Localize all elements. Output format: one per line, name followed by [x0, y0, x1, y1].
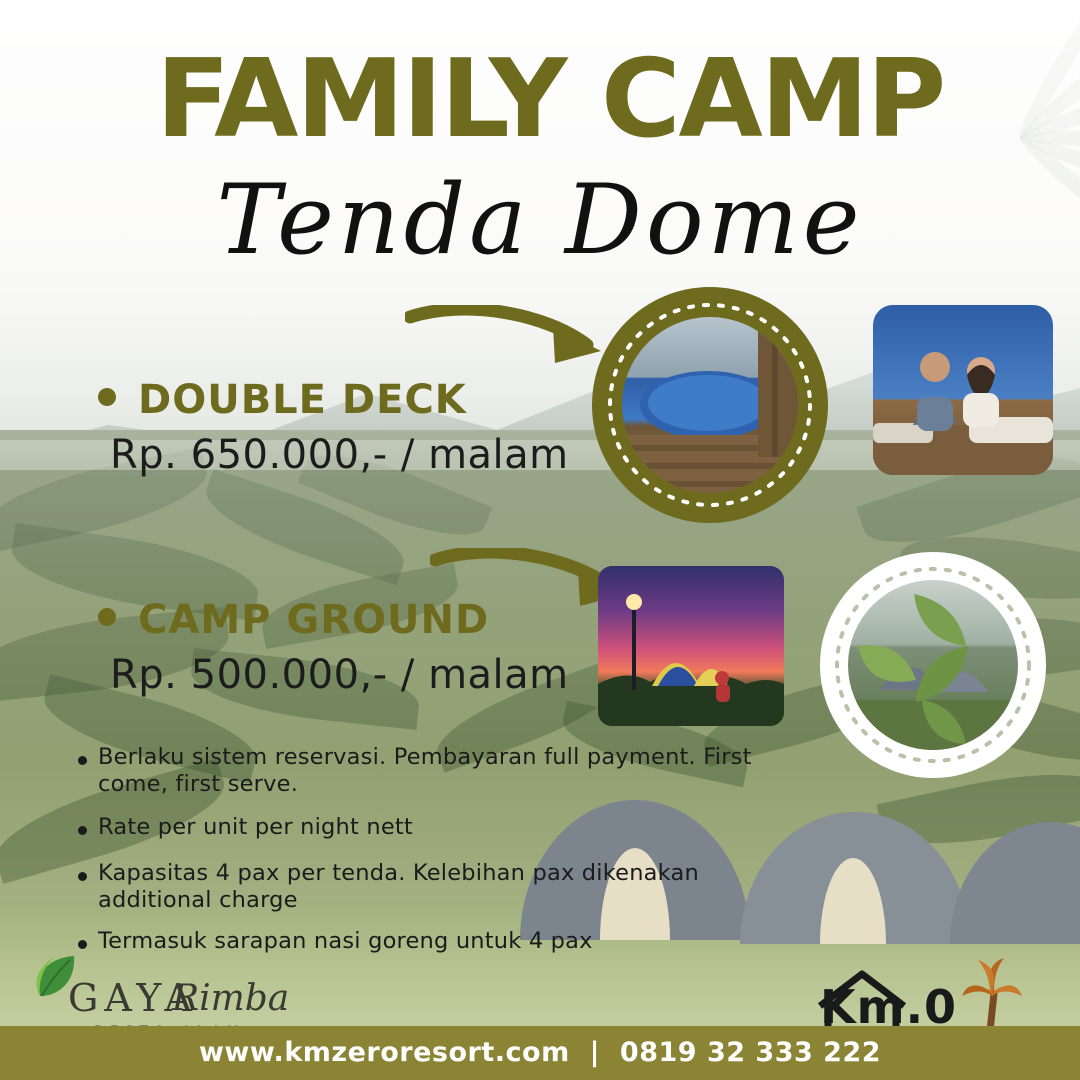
arrow-top-icon [405, 305, 615, 375]
offer-title-double-deck: DOUBLE DECK [138, 377, 467, 423]
footer-website[interactable]: www.kmzeroresort.com [199, 1037, 570, 1068]
note-bullet-3 [78, 872, 87, 881]
note-item-4: Termasuk sarapan nasi goreng untuk 4 pax [98, 928, 778, 955]
note-item-2: Rate per unit per night nett [98, 814, 768, 841]
double-deck-tent-photo [590, 285, 830, 525]
note-bullet-4 [78, 940, 87, 949]
page-subtitle: Tenda Dome [90, 150, 990, 300]
note-item-3: Kapasitas 4 pax per tenda. Kelebihan pax… [98, 860, 778, 914]
offer-bullet-1 [98, 388, 116, 406]
note-item-1: Berlaku sistem reservasi. Pembayaran ful… [98, 744, 768, 798]
tents-foliage-photo [818, 550, 1048, 780]
couple-in-tent-photo [873, 305, 1053, 475]
note-bullet-1 [78, 756, 87, 765]
camp-ground-sunset-photo [598, 566, 784, 726]
page-title: FAMILY CAMP [0, 48, 1080, 158]
footer-phone[interactable]: 0819 32 333 222 [620, 1037, 881, 1068]
footer-contact: www.kmzeroresort.com | 0819 32 333 222 [0, 1026, 1080, 1080]
logo-brand-script: Rimba [172, 978, 289, 1019]
footer-separator: | [590, 1037, 600, 1068]
offer-price-camp-ground: Rp. 500.000,- / malam [110, 652, 569, 698]
offer-title-camp-ground: CAMP GROUND [138, 597, 489, 643]
poster-root: FAMILY CAMP Tenda Dome DOUBLE DECK Rp. 6… [0, 0, 1080, 1080]
note-bullet-2 [78, 826, 87, 835]
offer-price-double-deck: Rp. 650.000,- / malam [110, 432, 569, 478]
offer-bullet-2 [98, 608, 116, 626]
